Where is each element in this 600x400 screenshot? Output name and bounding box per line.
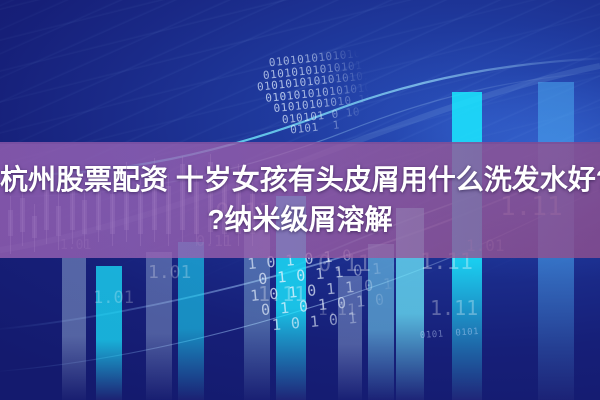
- headline-band-edge: [0, 142, 600, 144]
- decorative-numeral: 1.01: [93, 288, 134, 308]
- decorative-numeral: 1.11: [318, 300, 357, 319]
- decorative-numeral: 1.11: [430, 296, 478, 320]
- headline-line-1: 杭州股票配资 十岁女孩有头皮屑用什么洗发水好?: [0, 164, 600, 195]
- headline-text: 杭州股票配资 十岁女孩有头皮屑用什么洗发水好? ?纳米级屑溶解: [0, 160, 600, 240]
- cover-image: 0101010101010101 01010101010101010 01010…: [0, 0, 600, 400]
- decorative-numeral: 1.11: [258, 282, 306, 306]
- decorative-numeral: 1.01: [148, 262, 191, 283]
- headline-line-2: ?纳米级屑溶解: [0, 200, 600, 240]
